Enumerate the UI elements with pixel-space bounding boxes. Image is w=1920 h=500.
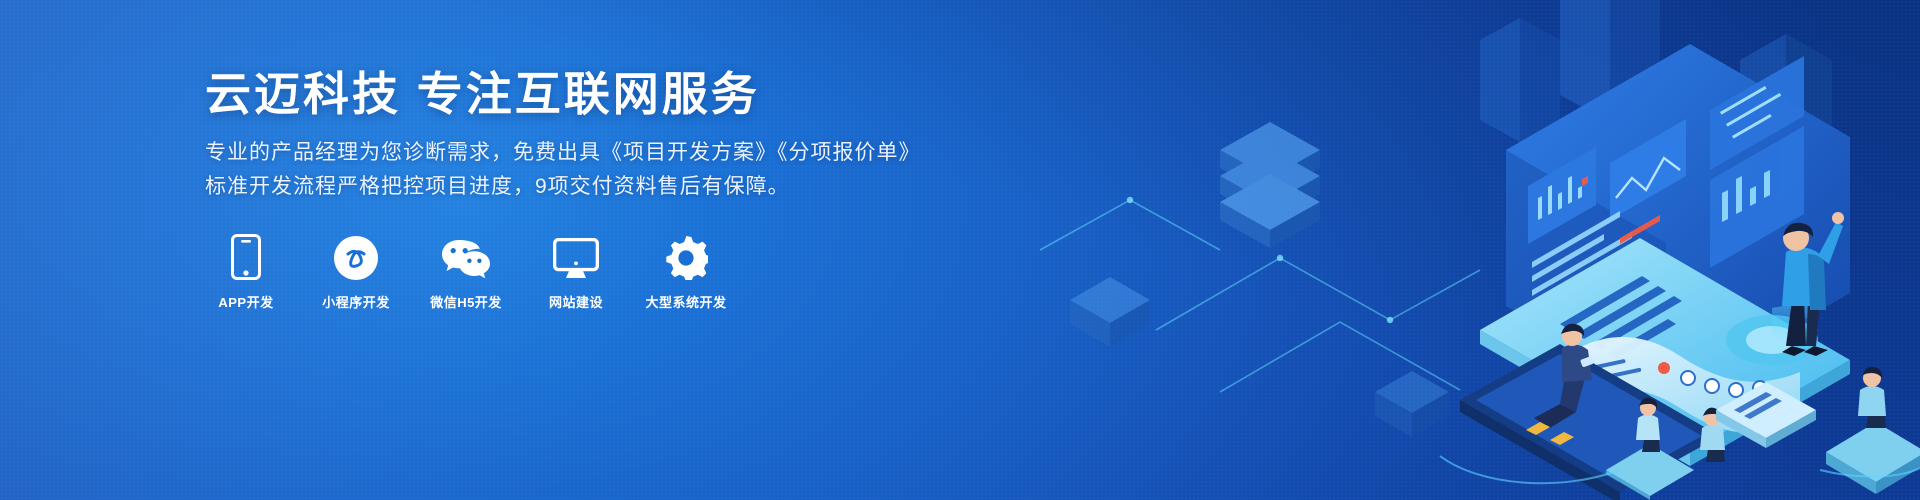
server-tower-left (1220, 122, 1320, 248)
service-label: 小程序开发 (322, 292, 390, 311)
service-label: 微信H5开发 (430, 292, 502, 311)
wechat-icon (441, 234, 491, 280)
monitor-icon (553, 234, 599, 280)
service-label: APP开发 (218, 292, 273, 311)
gear-icon (664, 234, 708, 280)
isometric-data-dashboard-illustration (920, 0, 1920, 500)
subtitle-line-2: 标准开发流程严格把控项目进度，9项交付资料售后有保障。 (205, 170, 985, 204)
banner-content: 云迈科技 专注互联网服务 专业的产品经理为您诊断需求，免费出具《项目开发方案》《… (205, 66, 985, 311)
service-label: 网站建设 (549, 292, 603, 311)
subtitle-line-1: 专业的产品经理为您诊断需求，免费出具《项目开发方案》《分项报价单》 (205, 136, 985, 170)
service-label: 大型系统开发 (645, 292, 726, 311)
mini-program-icon (334, 234, 378, 280)
service-item-mini-program[interactable]: 小程序开发 (315, 234, 397, 311)
hero-banner: 云迈科技 专注互联网服务 专业的产品经理为您诊断需求，免费出具《项目开发方案》《… (0, 0, 1920, 500)
page-title: 云迈科技 专注互联网服务 (205, 66, 985, 124)
service-list: APP开发 小程序开发 (205, 234, 985, 311)
service-item-wechat-h5[interactable]: 微信H5开发 (425, 234, 507, 311)
service-item-app[interactable]: APP开发 (205, 234, 287, 311)
service-item-large-system[interactable]: 大型系统开发 (645, 234, 727, 311)
illustration-container (920, 0, 1920, 500)
isometric-cube-small (1070, 277, 1150, 347)
mobile-phone-icon (231, 234, 261, 280)
isometric-cube-bottom (1375, 371, 1449, 437)
service-item-website[interactable]: 网站建设 (535, 234, 617, 311)
